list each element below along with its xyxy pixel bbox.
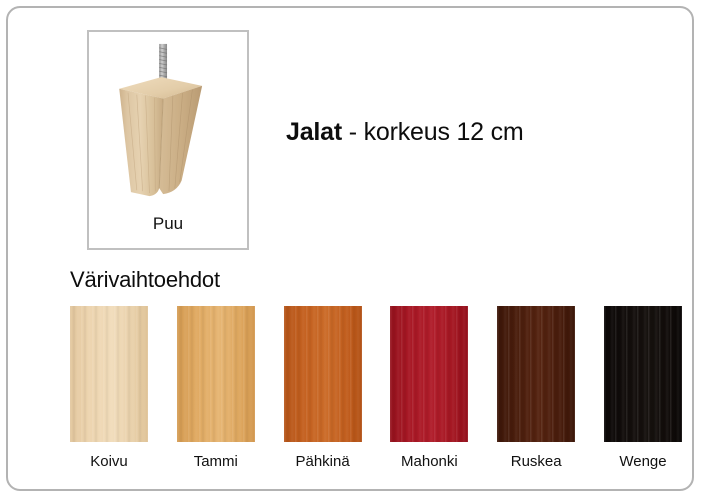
swatch-label: Tammi	[177, 453, 255, 470]
page-title: Jalat - korkeus 12 cm	[286, 118, 524, 147]
product-caption: Puu	[89, 214, 247, 234]
swatch-chip[interactable]	[70, 306, 148, 442]
swatch-label: Ruskea	[497, 453, 575, 470]
swatch-chip[interactable]	[604, 306, 682, 442]
color-swatch-koivu[interactable]: Koivu	[70, 306, 148, 470]
swatch-chip[interactable]	[497, 306, 575, 442]
swatch-label: Pähkinä	[284, 453, 362, 470]
swatch-label: Mahonki	[390, 453, 468, 470]
swatch-chip[interactable]	[177, 306, 255, 442]
color-swatch-wenge[interactable]: Wenge	[604, 306, 682, 470]
product-image-panel[interactable]: Puu	[87, 30, 249, 250]
color-swatch-row: Koivu Tammi Pähkinä Mahonki Ruskea Wenge	[70, 306, 682, 470]
color-swatch-tammi[interactable]: Tammi	[177, 306, 255, 470]
swatch-chip[interactable]	[390, 306, 468, 442]
color-options-heading: Värivaihtoehdot	[70, 267, 220, 293]
swatch-label: Koivu	[70, 453, 148, 470]
color-swatch-pahkina[interactable]: Pähkinä	[284, 306, 362, 470]
product-info-card: Puu Jalat - korkeus 12 cm Värivaihtoehdo…	[6, 6, 694, 491]
color-swatch-mahonki[interactable]: Mahonki	[390, 306, 468, 470]
wooden-furniture-leg-image	[89, 32, 247, 208]
page-title-rest: - korkeus 12 cm	[342, 118, 524, 146]
color-swatch-ruskea[interactable]: Ruskea	[497, 306, 575, 470]
swatch-label: Wenge	[604, 453, 682, 470]
page-title-strong: Jalat	[286, 118, 342, 146]
swatch-chip[interactable]	[284, 306, 362, 442]
